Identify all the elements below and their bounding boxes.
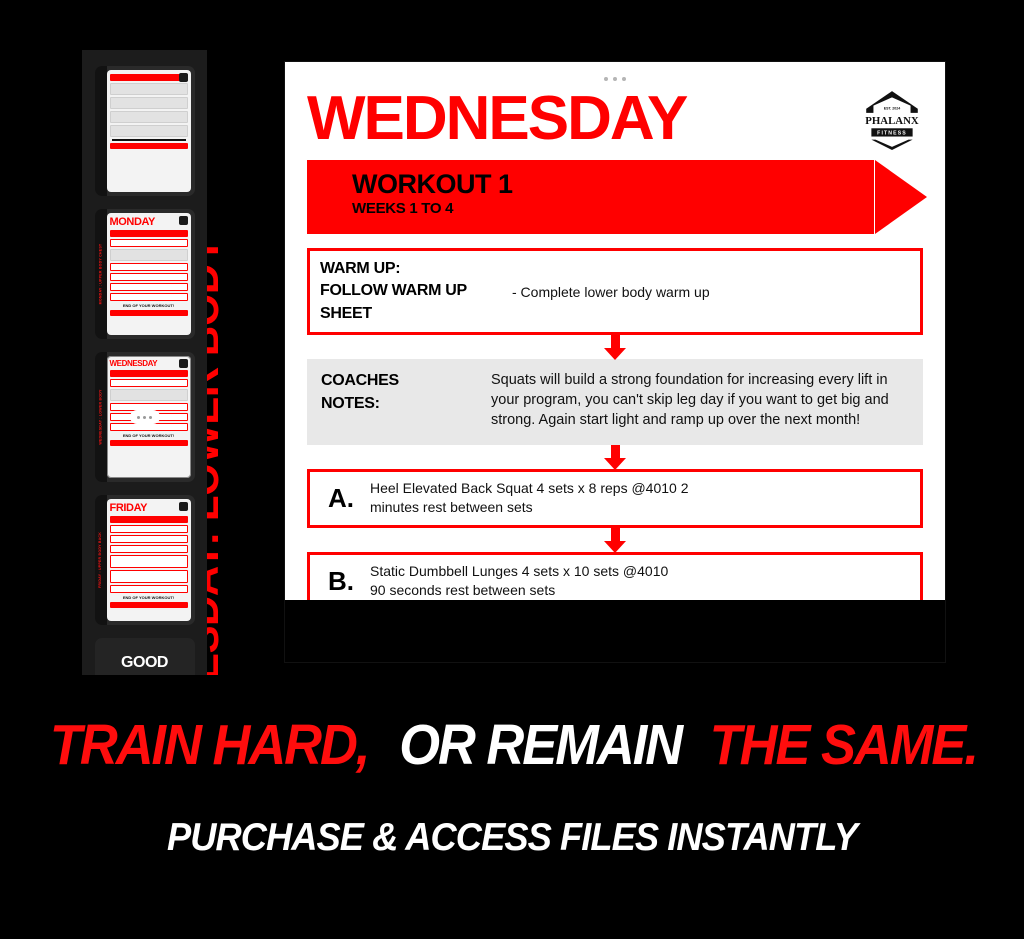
- thumbnail-title: WEDNESDAY: [110, 360, 188, 368]
- thumbnail-page: FRIDAY END OF YOUR WORKOUT!: [107, 499, 191, 621]
- tagline-part-1: TRAIN HARD,: [50, 712, 369, 778]
- thumbnail-workout-banner: [110, 516, 188, 523]
- thumbnail-row: [110, 379, 188, 387]
- thumbnail-section-row: [110, 111, 188, 123]
- marketing-subline: PURCHASE & ACCESS FILES INSTANTLY: [0, 816, 1024, 860]
- thumbnail-row: [110, 263, 188, 271]
- exercise-letter: A.: [320, 483, 370, 514]
- svg-text:FITNESS: FITNESS: [877, 130, 907, 136]
- thumbnail-good-luck[interactable]: GOOD: [95, 638, 195, 675]
- page-title: WEDNESDAY: [307, 88, 686, 150]
- thumbnail-end-text: END OF YOUR WORKOUT!: [110, 433, 188, 438]
- arrow-right-icon: [875, 160, 927, 234]
- marketing-subline-label: PURCHASE & ACCESS FILES INSTANTLY: [167, 816, 857, 860]
- marketing-tagline: TRAIN HARD, OR REMAIN THE SAME.: [0, 712, 1024, 778]
- thumbnail-spine: [95, 66, 107, 196]
- document-header: WEDNESDAY PHALANX EST. 2024 FITNESS: [307, 86, 923, 152]
- coaches-notes-text: Squats will build a strong foundation fo…: [491, 370, 913, 430]
- workout-title: WORKOUT 1: [352, 170, 874, 198]
- thumbnail-rail[interactable]: MONDAY : UPPER BODY CHEST MONDAY END OF …: [82, 50, 207, 675]
- arrow-down-icon: [307, 445, 923, 469]
- coaches-notes-label-line1: COACHES: [321, 370, 491, 392]
- arrow-head: [604, 458, 626, 470]
- thumbnail-section-row: [110, 83, 188, 95]
- thumbnail-title: GOOD: [95, 654, 195, 675]
- exercise-text: Static Dumbbell Lunges 4 sets x 10 sets …: [370, 562, 910, 601]
- loading-dot: [149, 416, 152, 419]
- thumbnail-spine-label: MONDAY : UPPER BODY CHEST: [99, 244, 103, 305]
- thumbnail-row: [110, 283, 188, 291]
- svg-text:PHALANX: PHALANX: [865, 115, 919, 127]
- workout-weeks: WEEKS 1 TO 4: [352, 200, 874, 217]
- workout-banner: WORKOUT 1 WEEKS 1 TO 4: [307, 160, 923, 234]
- thumbnail-footer-banner: [110, 310, 188, 316]
- loading-dot: [143, 416, 146, 419]
- thumbnail-spine: MONDAY : UPPER BODY CHEST: [95, 209, 107, 339]
- warmup-label-line1: WARM UP:: [320, 258, 490, 280]
- exercise-text-line2: minutes rest between sets: [370, 498, 910, 517]
- tagline-part-2: OR REMAIN: [399, 712, 681, 778]
- thumbnail-footer-banner: [110, 143, 188, 149]
- phalanx-fitness-logo-icon: PHALANX EST. 2024 FITNESS: [861, 86, 923, 152]
- thumbnail-row: [110, 249, 188, 261]
- coaches-notes-row: COACHES NOTES: Squats will build a stron…: [307, 359, 923, 445]
- exercise-text: Heel Elevated Back Squat 4 sets x 8 reps…: [370, 479, 910, 518]
- warmup-note: - Complete lower body warm up: [490, 284, 910, 300]
- thumbnail-footer-banner: [110, 602, 188, 608]
- arrow-down-icon: [307, 528, 923, 552]
- warmup-label-line2: FOLLOW WARM UP SHEET: [320, 280, 490, 325]
- coaches-notes-label: COACHES NOTES:: [321, 370, 491, 415]
- warmup-row: WARM UP: FOLLOW WARM UP SHEET - Complete…: [307, 248, 923, 335]
- thumbnail-rule: [112, 139, 186, 141]
- thumbnail-friday[interactable]: FRIDAY : UPPER BODY BACK FRIDAY END OF Y…: [95, 495, 195, 625]
- loading-indicator: [130, 410, 160, 424]
- loading-dot: [613, 77, 617, 81]
- thumbnail-wednesday[interactable]: WEDNESDAY : LOWER BODY WEDNESDAY END OF …: [95, 352, 195, 482]
- document-viewer[interactable]: WEDNESDAY PHALANX EST. 2024 FITNESS: [285, 62, 945, 662]
- thumbnail-end-text: END OF YOUR WORKOUT!: [110, 595, 188, 600]
- thumbnail-workout-banner: [110, 370, 188, 377]
- thumbnail-title-banner: [110, 74, 188, 81]
- thumbnail-row: [110, 545, 188, 553]
- thumbnail-monday[interactable]: MONDAY : UPPER BODY CHEST MONDAY END OF …: [95, 209, 195, 339]
- vertical-day-title: ESDAY: LOWER BODY: [207, 50, 285, 675]
- thumbnail-row: [110, 423, 188, 431]
- thumbnail-row: [110, 585, 188, 593]
- thumbnail-row: [110, 293, 188, 301]
- thumbnail-spine: WEDNESDAY : LOWER BODY: [95, 352, 107, 482]
- three-dots-loading-icon: [285, 62, 945, 86]
- arrow-head: [604, 348, 626, 360]
- screenshot-root: MONDAY : UPPER BODY CHEST MONDAY END OF …: [0, 0, 1024, 939]
- warmup-label: WARM UP: FOLLOW WARM UP SHEET: [320, 258, 490, 325]
- viewport-clip: [285, 600, 945, 662]
- document-content: WEDNESDAY PHALANX EST. 2024 FITNESS: [285, 86, 945, 662]
- thumbnail-row: [110, 570, 188, 583]
- vertical-day-title-label: ESDAY: LOWER BODY: [207, 237, 225, 675]
- svg-text:EST. 2024: EST. 2024: [884, 107, 901, 111]
- thumbnail-warmup-sheet[interactable]: [95, 66, 195, 196]
- coaches-notes-label-line2: NOTES:: [321, 393, 491, 415]
- thumbnail-row: [110, 239, 188, 247]
- loading-dot: [604, 77, 608, 81]
- thumbnail-row: [110, 273, 188, 281]
- brand-logo-icon: [179, 359, 188, 368]
- exercise-letter: B.: [320, 566, 370, 597]
- thumbnail-end-text: END OF YOUR WORKOUT!: [110, 303, 188, 308]
- exercise-text-line1: Heel Elevated Back Squat 4 sets x 8 reps…: [370, 479, 910, 498]
- thumbnail-page: [107, 70, 191, 192]
- exercise-row: A. Heel Elevated Back Squat 4 sets x 8 r…: [307, 469, 923, 528]
- thumbnail-title: MONDAY: [110, 217, 188, 228]
- loading-dot: [622, 77, 626, 81]
- exercise-text-line1: Static Dumbbell Lunges 4 sets x 10 sets …: [370, 562, 910, 581]
- brand-logo-icon: [179, 216, 188, 225]
- thumbnail-title: FRIDAY: [110, 503, 188, 514]
- tagline-part-3: THE SAME.: [709, 712, 976, 778]
- arrow-head: [604, 541, 626, 553]
- thumbnail-spine-label: WEDNESDAY : LOWER BODY: [99, 389, 103, 444]
- thumbnail-workout-banner: [110, 230, 188, 237]
- brand-logo-icon: [179, 502, 188, 511]
- thumbnail-spine-label: FRIDAY : UPPER BODY BACK: [99, 532, 103, 588]
- thumbnail-row: [110, 555, 188, 568]
- thumbnail-page: MONDAY END OF YOUR WORKOUT!: [107, 213, 191, 335]
- thumbnail-row: [110, 535, 188, 543]
- brand-logo-icon: [179, 73, 188, 82]
- arrow-down-icon: [307, 335, 923, 359]
- thumbnail-section-row: [110, 97, 188, 109]
- thumbnail-section-row: [110, 125, 188, 137]
- thumbnail-footer-banner: [110, 440, 188, 446]
- thumbnail-row: [110, 389, 188, 401]
- thumbnail-row: [110, 525, 188, 533]
- thumbnail-spine: FRIDAY : UPPER BODY BACK: [95, 495, 107, 625]
- loading-dot: [137, 416, 140, 419]
- workout-banner-body: WORKOUT 1 WEEKS 1 TO 4: [307, 160, 874, 234]
- exercise-text-line2: 90 seconds rest between sets: [370, 581, 910, 600]
